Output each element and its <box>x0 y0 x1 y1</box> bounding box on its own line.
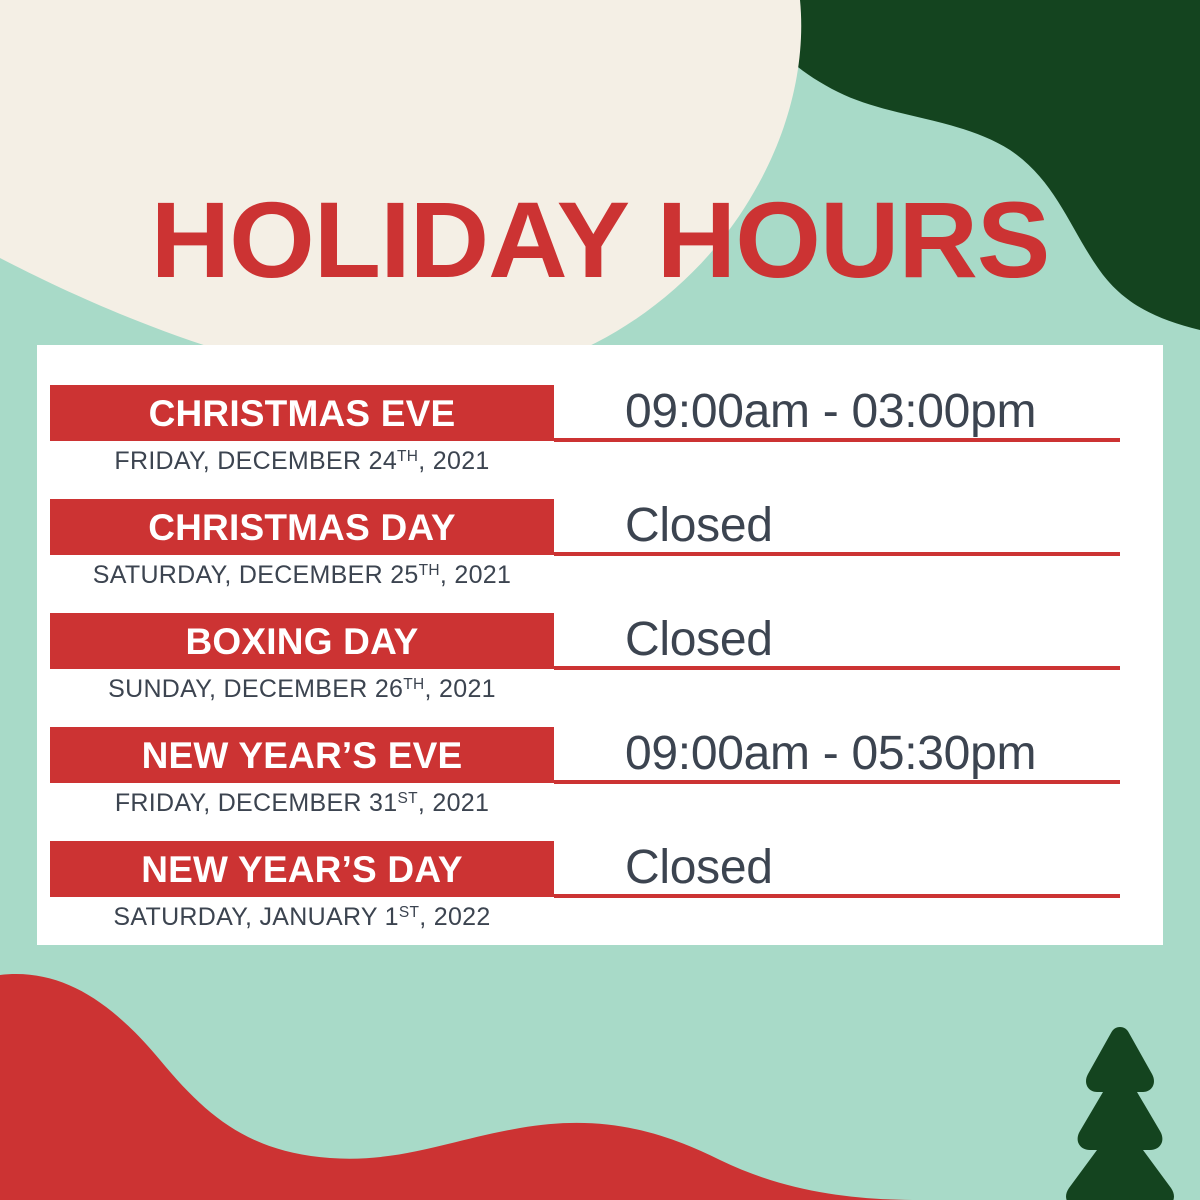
table-row: CHRISTMAS EVE FRIDAY, DECEMBER 24TH, 202… <box>37 385 1163 499</box>
holiday-name: BOXING DAY <box>186 623 419 660</box>
date-suffix: , 2021 <box>418 447 489 475</box>
date-ordinal: TH <box>397 448 418 465</box>
date-prefix: FRIDAY, DECEMBER 31 <box>115 789 398 817</box>
date-suffix: , 2021 <box>418 789 489 817</box>
holiday-banner: NEW YEAR’S DAY <box>50 841 554 897</box>
date-suffix: , 2021 <box>440 561 511 589</box>
table-row: BOXING DAY SUNDAY, DECEMBER 26TH, 2021 C… <box>37 613 1163 727</box>
date-suffix: , 2022 <box>419 903 490 931</box>
holiday-banner: CHRISTMAS EVE <box>50 385 554 441</box>
table-row: CHRISTMAS DAY SATURDAY, DECEMBER 25TH, 2… <box>37 499 1163 613</box>
holiday-date: FRIDAY, DECEMBER 24TH, 2021 <box>50 446 554 476</box>
holiday-name: CHRISTMAS DAY <box>148 509 456 546</box>
date-prefix: SATURDAY, DECEMBER 25 <box>93 561 419 589</box>
holiday-hours: 09:00am - 05:30pm <box>625 723 1036 785</box>
holiday-date: SATURDAY, JANUARY 1ST, 2022 <box>50 902 554 932</box>
holiday-hours: 09:00am - 03:00pm <box>625 381 1036 443</box>
date-ordinal: ST <box>397 790 417 807</box>
date-ordinal: TH <box>419 562 440 579</box>
holiday-hours: Closed <box>625 495 773 557</box>
date-ordinal: TH <box>403 676 424 693</box>
holiday-hours: Closed <box>625 609 773 671</box>
page-title: HOLIDAY HOURS <box>0 186 1200 294</box>
holiday-date: FRIDAY, DECEMBER 31ST, 2021 <box>50 788 554 818</box>
table-row: NEW YEAR’S DAY SATURDAY, JANUARY 1ST, 20… <box>37 841 1163 955</box>
date-suffix: , 2021 <box>425 675 496 703</box>
table-row: NEW YEAR’S EVE FRIDAY, DECEMBER 31ST, 20… <box>37 727 1163 841</box>
holiday-banner: CHRISTMAS DAY <box>50 499 554 555</box>
holiday-hours-poster: HOLIDAY HOURS CHRISTMAS EVE FRIDAY, DECE… <box>0 0 1200 1200</box>
date-prefix: FRIDAY, DECEMBER 24 <box>114 447 397 475</box>
hours-card: CHRISTMAS EVE FRIDAY, DECEMBER 24TH, 202… <box>37 345 1163 945</box>
holiday-hours: Closed <box>625 837 773 899</box>
holiday-banner: BOXING DAY <box>50 613 554 669</box>
holiday-name: CHRISTMAS EVE <box>149 395 456 432</box>
holiday-name: NEW YEAR’S EVE <box>142 737 463 774</box>
holiday-date: SATURDAY, DECEMBER 25TH, 2021 <box>50 560 554 590</box>
holiday-banner: NEW YEAR’S EVE <box>50 727 554 783</box>
date-prefix: SUNDAY, DECEMBER 26 <box>108 675 403 703</box>
date-ordinal: ST <box>399 904 419 921</box>
date-prefix: SATURDAY, JANUARY 1 <box>113 903 398 931</box>
holiday-name: NEW YEAR’S DAY <box>141 851 463 888</box>
holiday-date: SUNDAY, DECEMBER 26TH, 2021 <box>50 674 554 704</box>
